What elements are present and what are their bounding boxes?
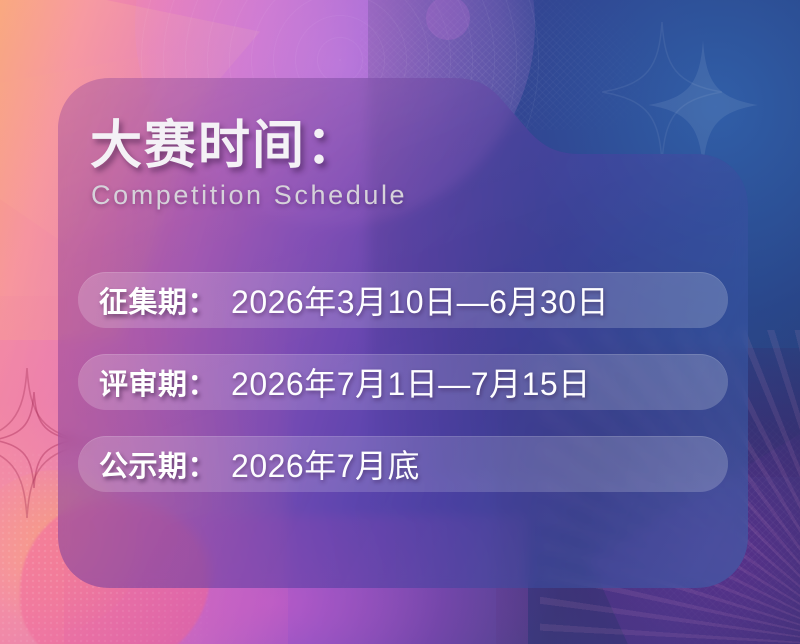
schedule-row-label: 评审期： [78, 361, 217, 403]
schedule-card: 大赛时间： Competition Schedule 征集期： 2026年3月1… [58, 60, 748, 590]
schedule-card-content: 大赛时间： Competition Schedule 征集期： 2026年3月1… [58, 60, 748, 590]
schedule-row-label: 公示期： [78, 443, 217, 485]
page-title: 大赛时间： [90, 120, 360, 172]
schedule-row-review: 评审期： 2026年7月1日—7月15日 [78, 354, 728, 410]
schedule-row-submission: 征集期： 2026年3月10日—6月30日 [78, 272, 728, 328]
page-subtitle: Competition Schedule [91, 182, 407, 209]
schedule-row-announcement: 公示期： 2026年7月底 [78, 436, 728, 492]
schedule-row-value: 2026年3月10日—6月30日 [231, 277, 609, 323]
schedule-row-label: 征集期： [78, 279, 217, 321]
schedule-list: 征集期： 2026年3月10日—6月30日 评审期： 2026年7月1日—7月1… [78, 272, 728, 492]
poster-canvas: 大赛时间： Competition Schedule 征集期： 2026年3月1… [0, 0, 800, 644]
schedule-row-value: 2026年7月底 [231, 441, 420, 487]
schedule-row-value: 2026年7月1日—7月15日 [231, 359, 591, 405]
